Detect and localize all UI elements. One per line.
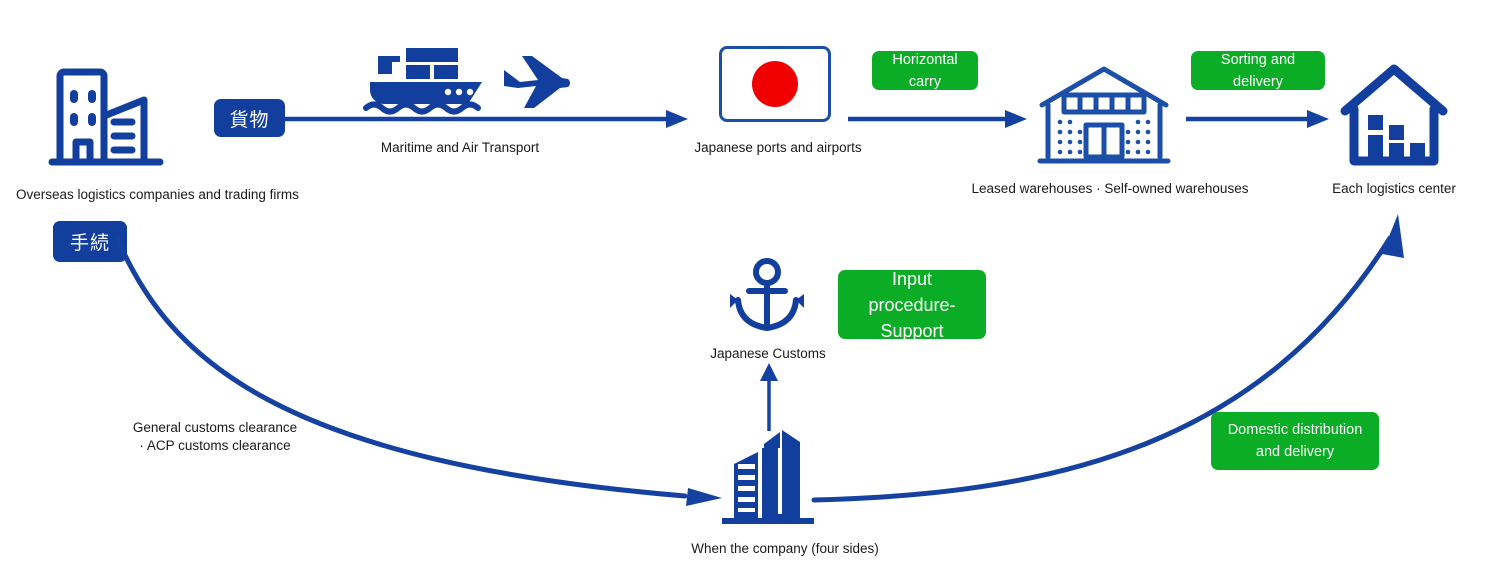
airplane-icon — [500, 52, 572, 112]
badge-domestic-distribution-line2: and delivery — [1256, 441, 1334, 463]
arrow-cargo-to-ports — [284, 108, 689, 130]
flag-red-circle — [752, 61, 798, 107]
caption-warehouses: Leased warehouses · Self-owned warehouse… — [960, 180, 1260, 197]
curve-procedure-to-company — [110, 240, 735, 515]
arrow-warehouses-to-center — [1186, 108, 1330, 130]
badge-cargo[interactable]: 貨物 — [214, 99, 285, 137]
caption-our-company: When the company (four sides) — [660, 540, 910, 557]
warehouse-icon — [1036, 65, 1172, 169]
logistics-flow-diagram: Overseas logistics companies and trading… — [0, 0, 1486, 575]
caption-logistics-center: Each logistics center — [1328, 180, 1460, 197]
house-logistics-center-icon — [1341, 67, 1447, 167]
caption-japanese-ports: Japanese ports and airports — [690, 139, 866, 156]
caption-overseas-companies: Overseas logistics companies and trading… — [16, 186, 336, 203]
badge-domestic-distribution[interactable]: Domestic distribution and delivery — [1211, 412, 1379, 470]
arrow-ports-to-warehouses — [848, 108, 1028, 130]
edge-label-customs-clearance-line1: General customs clearance — [115, 419, 315, 436]
arrow-company-to-customs — [758, 363, 780, 431]
japan-flag-icon — [719, 46, 831, 122]
office-towers-icon — [722, 426, 814, 524]
edge-label-maritime-air: Maritime and Air Transport — [330, 139, 590, 156]
badge-horizontal-carry[interactable]: Horizontal carry — [872, 51, 978, 90]
edge-label-customs-clearance-line2: · ACP customs clearance — [115, 437, 315, 454]
badge-domestic-distribution-line1: Domestic distribution — [1228, 419, 1363, 441]
badge-sorting-delivery[interactable]: Sorting and delivery — [1191, 51, 1325, 90]
anchor-icon — [726, 258, 808, 334]
cargo-ship-icon — [364, 44, 492, 114]
office-building-outline-icon — [48, 58, 166, 170]
